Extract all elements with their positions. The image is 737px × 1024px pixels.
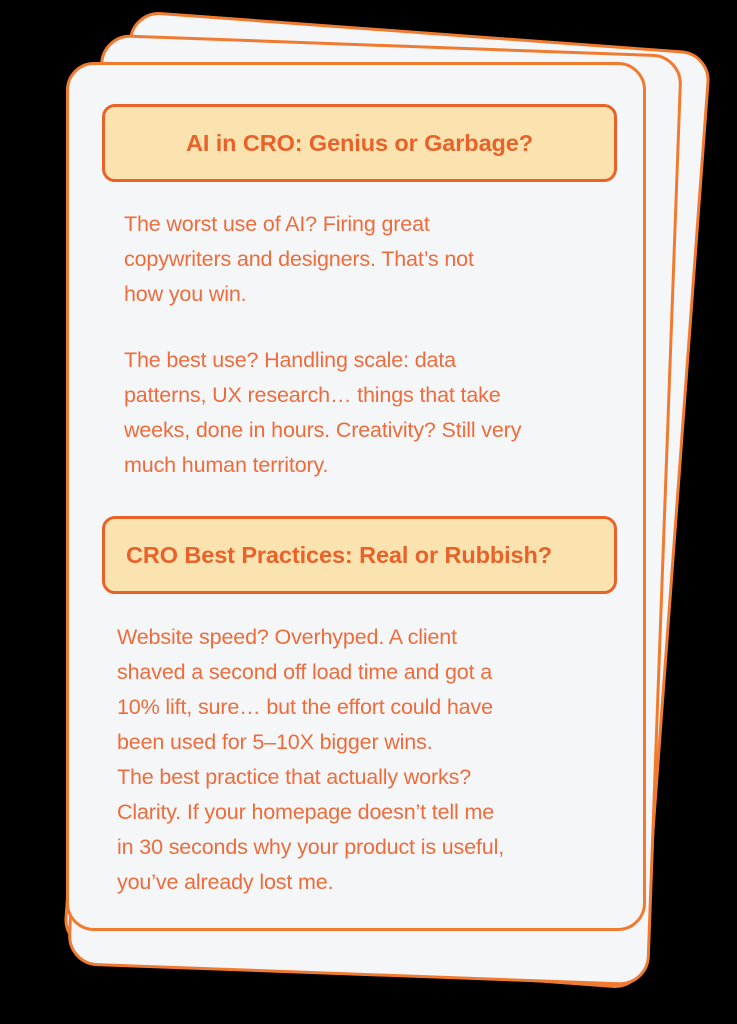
section-heading-banner-ai-in-cro: AI in CRO: Genius or Garbage? — [102, 104, 617, 182]
paragraph-worst-use-of-ai: The worst use of AI? Firing great copywr… — [124, 207, 624, 312]
section-heading-text: CRO Best Practices: Real or Rubbish? — [126, 542, 552, 569]
section-heading-banner-cro-best-practices: CRO Best Practices: Real or Rubbish? — [102, 516, 617, 594]
front-card[interactable]: AI in CRO: Genius or Garbage? The worst … — [66, 62, 646, 931]
paragraph-cro-best-practices: Website speed? Overhyped. A client shave… — [117, 620, 637, 900]
front-card-content: AI in CRO: Genius or Garbage? The worst … — [69, 65, 643, 928]
card-stack-stage: AI in CRO: Genius or Garbage? The worst … — [0, 0, 737, 1024]
section-heading-text: AI in CRO: Genius or Garbage? — [186, 130, 533, 157]
paragraph-best-use-of-ai: The best use? Handling scale: data patte… — [124, 343, 629, 483]
